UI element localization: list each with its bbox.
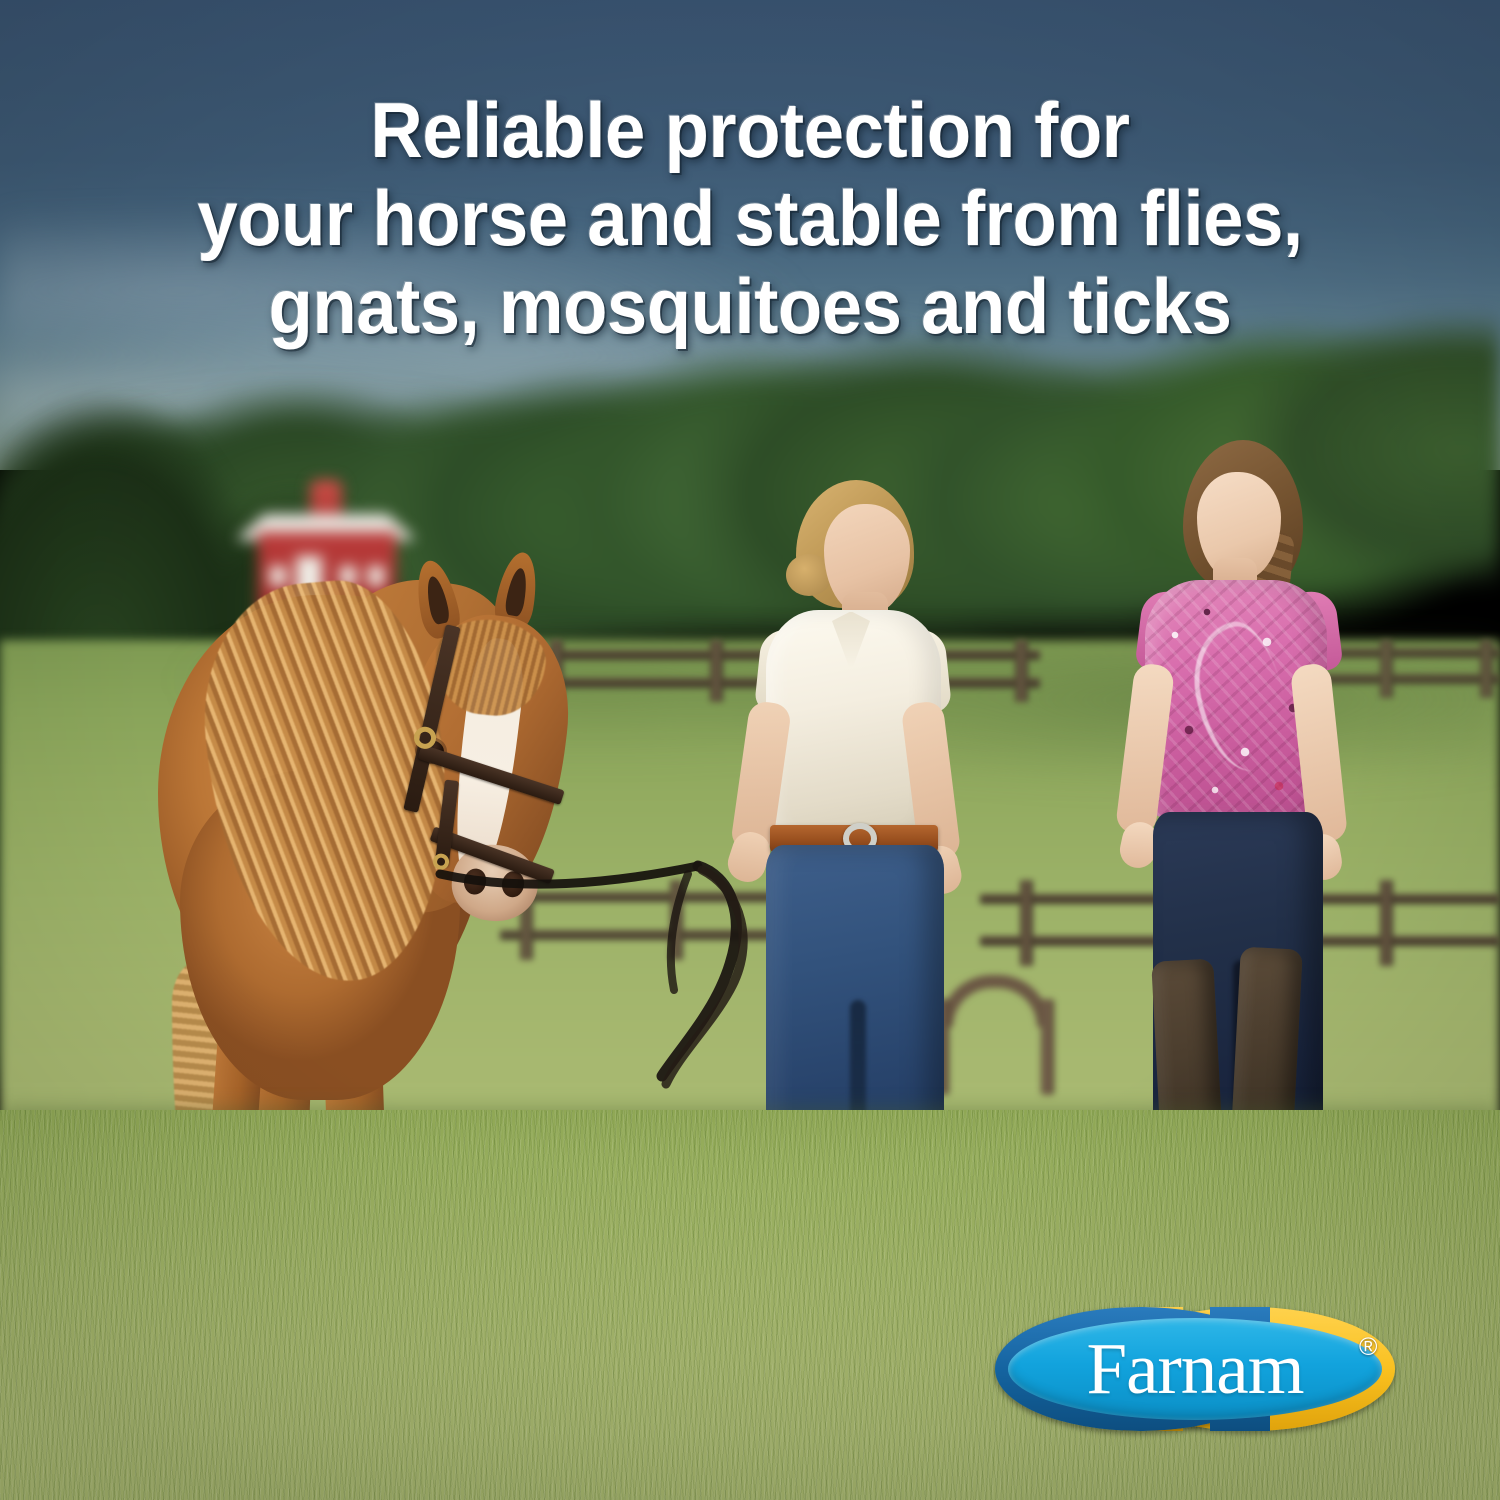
horse-halter (382, 615, 597, 935)
logo-wordmark: Farnam (1008, 1318, 1382, 1420)
banner-image: Reliable protection for your horse and s… (0, 0, 1500, 1500)
registered-trademark-icon: ® (1359, 1333, 1377, 1362)
farnam-logo: Farnam ® (995, 1305, 1395, 1435)
